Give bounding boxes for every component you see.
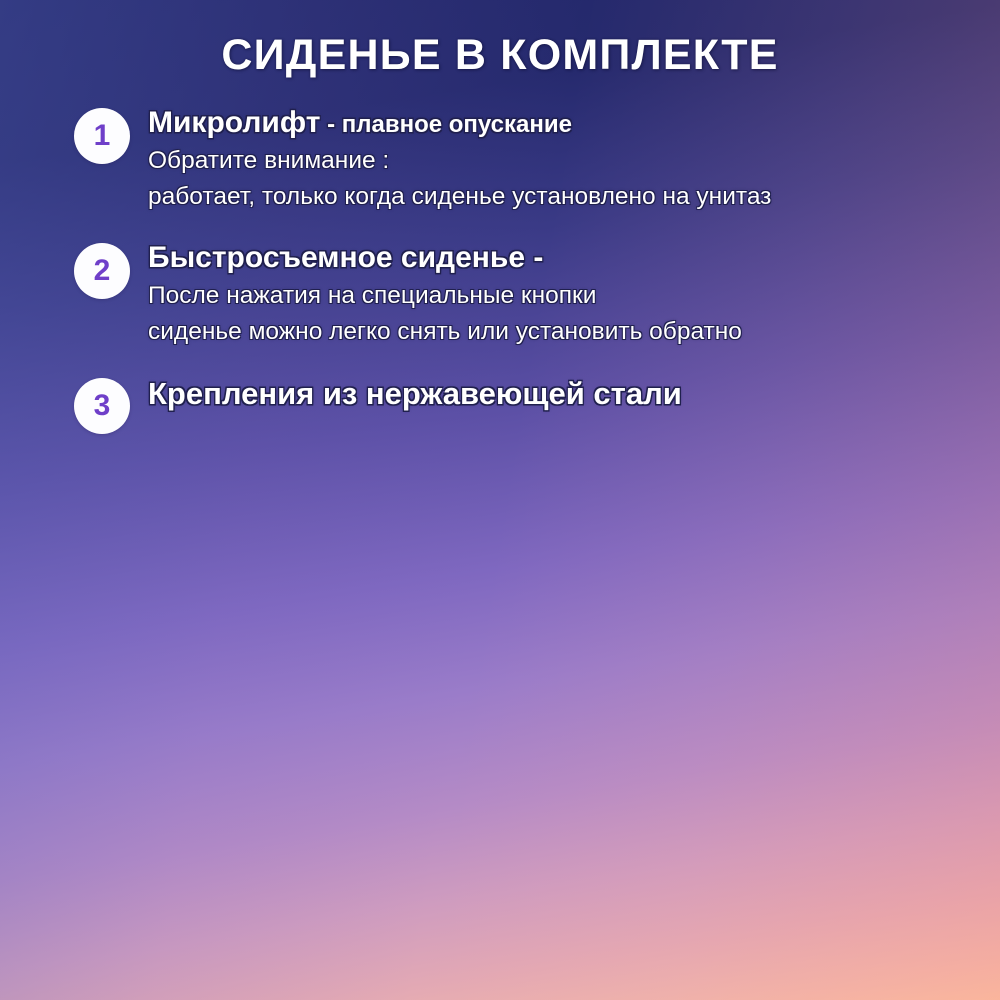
feature-heading-3: Крепления из нержавеющей стали <box>148 376 978 412</box>
feature-item-2: 2 Быстросъемное сиденье - После нажатия … <box>74 241 978 349</box>
promo-poster: СИДЕНЬЕ В КОМПЛЕКТЕ 1 Микролифт - плавно… <box>0 0 1000 1000</box>
feature-number-badge-1: 1 <box>74 108 130 164</box>
feature-heading-bold-1: Микролифт <box>148 106 320 139</box>
feature-number-badge-3: 3 <box>74 378 130 434</box>
feature-detail-2a: После нажатия на специальные кнопки <box>148 280 978 313</box>
feature-heading-rest-1: - плавное опускание <box>320 111 572 138</box>
feature-text-1: Микролифт - плавное опускание Обратите в… <box>148 106 978 214</box>
feature-item-1: 1 Микролифт - плавное опускание Обратите… <box>74 106 978 214</box>
feature-item-3: 3 Крепления из нержавеющей стали <box>74 376 978 434</box>
feature-detail-1b: работает, только когда сиденье установле… <box>148 181 978 214</box>
feature-heading-2: Быстросъемное сиденье - <box>148 241 978 276</box>
feature-detail-2b: сиденье можно легко снять или установить… <box>148 316 978 349</box>
feature-text-3: Крепления из нержавеющей стали <box>148 376 978 412</box>
page-title: СИДЕНЬЕ В КОМПЛЕКТЕ <box>0 0 1000 80</box>
feature-detail-1a: Обратите внимание : <box>148 145 978 178</box>
feature-number-badge-2: 2 <box>74 243 130 299</box>
feature-text-2: Быстросъемное сиденье - После нажатия на… <box>148 241 978 349</box>
feature-heading-1: Микролифт - плавное опускание <box>148 106 978 141</box>
feature-list: 1 Микролифт - плавное опускание Обратите… <box>0 106 1000 434</box>
